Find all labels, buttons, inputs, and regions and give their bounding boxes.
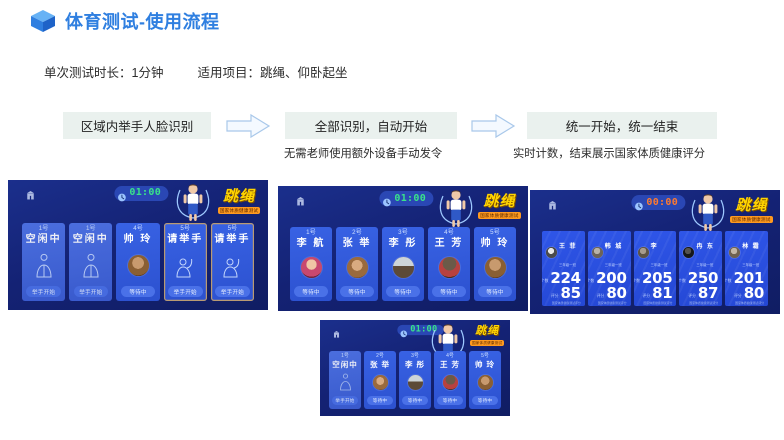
sport-label: 跳绳 国家体质健康测试 (218, 189, 260, 214)
card-number: 1号 (341, 354, 349, 359)
student-card[interactable]: 4号 帅 玲 等待中 (116, 223, 159, 301)
card-name: 李 彤 (405, 361, 425, 369)
result-card-header: 冉 东 三年级一班 (683, 235, 718, 271)
score-footnote: 国家体质健康测试评分 (683, 302, 718, 305)
sport-badge: 国家体质健康测试 (470, 340, 504, 346)
screenshot-panel-standby[interactable]: 01:00 跳绳 国家体质健康测试 1号 空闲中 (8, 180, 268, 310)
flow-step-1-label: 区域内举手人脸识别 (81, 116, 194, 135)
avatar (729, 247, 740, 258)
card-action-button[interactable]: 等待中 (472, 396, 497, 405)
screenshot-panel-partial-recognized[interactable]: 01:00 跳绳 国家体质健康测试 1号 空闲中 (320, 320, 510, 416)
timer-value: 01:00 (129, 188, 161, 198)
card-number: 3号 (398, 230, 408, 236)
result-score-row: 评分 80 (592, 286, 627, 301)
card-action-button[interactable]: 等待中 (294, 286, 328, 297)
score-footnote: 国家体质健康测试评分 (546, 302, 581, 305)
card-figure (291, 249, 331, 286)
panel-header: 01:00 跳绳 国家体质健康测试 (8, 180, 268, 223)
card-figure (23, 245, 64, 286)
count-label: 个数 (725, 280, 731, 286)
student-card[interactable]: 3号 李 彤 等待中 (399, 351, 431, 409)
result-card[interactable]: 林 霜 三年级一班 个数 201 评分 80 国家体质健康测试评分 (725, 231, 768, 306)
card-number: 2号 (352, 230, 362, 236)
result-card-header: 林 霜 三年级一班 (729, 235, 764, 271)
screenshot-panel-results[interactable]: 00:00 跳绳 国家体质健康测试 王 菲 (530, 190, 780, 314)
card-number: 4号 (446, 354, 454, 359)
card-name: 请举手 (214, 235, 250, 245)
card-figure (165, 245, 206, 286)
clock-icon (634, 198, 643, 207)
result-card-list: 王 菲 三年级一班 个数 224 评分 85 国家体质健康测试评分 (530, 231, 780, 314)
card-number: 1号 (39, 226, 49, 232)
result-values: 个数 205 评分 81 国家体质健康测试评分 (638, 271, 673, 305)
sport-badge: 国家体质健康测试 (218, 207, 260, 214)
result-score-row: 评分 87 (683, 286, 718, 301)
card-number: 5号 (490, 230, 500, 236)
result-card-header: 李 三年级一班 (638, 235, 673, 271)
clock-icon (400, 326, 408, 334)
student-card[interactable]: 4号 王 芳 等待中 (428, 227, 470, 301)
student-card[interactable]: 1号 空闲中 举手开始 (329, 351, 361, 409)
jump-rope-athlete-icon (173, 181, 213, 219)
jump-rope-athlete-icon (688, 191, 728, 227)
result-card[interactable]: 王 菲 三年级一班 个数 224 评分 85 国家体质健康测试评分 (542, 231, 585, 306)
raise-hand-pose-icon (32, 253, 56, 279)
avatar (373, 375, 388, 390)
timer-value: 00:00 (646, 198, 678, 208)
card-action-button[interactable]: 举手开始 (215, 286, 250, 297)
score-value: 85 (561, 286, 581, 301)
score-value: 80 (606, 286, 626, 301)
result-name: 韩 城 (605, 244, 623, 250)
avatar (408, 375, 423, 390)
score-value: 81 (652, 286, 672, 301)
card-name: 帅 玲 (481, 239, 510, 249)
student-card[interactable]: 2号 张 举 等待中 (336, 227, 378, 301)
card-figure (383, 249, 423, 286)
card-action-button[interactable]: 等待中 (402, 396, 427, 405)
school-icon (296, 193, 305, 202)
avatar (546, 247, 557, 258)
result-values: 个数 224 评分 85 国家体质健康测试评分 (546, 271, 581, 305)
card-name: 王 芳 (435, 239, 464, 249)
countdown-timer: 01:00 (379, 191, 433, 206)
sport-label: 跳绳 国家体质健康测试 (470, 326, 504, 346)
flow-step-2-label: 全部识别，自动开始 (315, 116, 428, 135)
avatar (439, 257, 460, 278)
card-action-button[interactable]: 举手开始 (168, 286, 203, 297)
count-label: 个数 (588, 280, 594, 286)
card-name: 空闲中 (332, 361, 358, 369)
flow-step-3: 统一开始，统一结束 (527, 112, 717, 139)
card-number: 5号 (228, 226, 238, 232)
panel-header: 01:00 跳绳 国家体质健康测试 (278, 186, 528, 227)
countdown-timer: 00:00 (631, 195, 685, 210)
result-score-row: 评分 81 (638, 286, 673, 301)
card-figure (330, 368, 360, 396)
card-number: 3号 (411, 354, 419, 359)
card-number: 2号 (376, 354, 384, 359)
avatar (393, 257, 414, 278)
flow-step-2: 全部识别，自动开始 (285, 112, 457, 139)
card-action-button[interactable]: 等待中 (478, 286, 512, 297)
student-card[interactable]: 3号 李 彤 等待中 (382, 227, 424, 301)
jump-rope-athlete-icon (428, 321, 468, 347)
score-footnote: 国家体质健康测试评分 (592, 302, 627, 305)
card-number: 5号 (481, 354, 489, 359)
result-values: 个数 201 评分 80 国家体质健康测试评分 (729, 271, 764, 305)
countdown-timer: 01:00 (114, 186, 168, 201)
score-value: 87 (698, 286, 718, 301)
result-class: 三年级一班 (651, 263, 668, 267)
avatar (128, 255, 149, 276)
student-card[interactable]: 4号 王 芳 等待中 (434, 351, 466, 409)
count-label: 个数 (634, 280, 640, 286)
card-action-button[interactable]: 等待中 (367, 396, 392, 405)
card-figure (475, 249, 515, 286)
result-class: 三年级一班 (559, 263, 576, 267)
card-figure (365, 368, 395, 396)
student-card[interactable]: 1号 空闲中 举手开始 (22, 223, 65, 301)
result-name: 王 菲 (559, 244, 577, 250)
avatar (301, 257, 322, 278)
page-header: 体育测试-使用流程 (30, 8, 220, 34)
sport-label: 跳绳 国家体质健康测试 (730, 198, 772, 223)
score-value: 80 (744, 286, 764, 301)
card-name: 李 彤 (389, 239, 418, 249)
card-figure (435, 368, 465, 396)
card-action-button[interactable]: 举手开始 (26, 286, 61, 297)
student-card-list: 1号 空闲中 举手开始 1号 空闲中 (8, 223, 268, 310)
sport-name: 跳绳 (730, 198, 772, 213)
card-name: 张 举 (370, 361, 390, 369)
school-icon (548, 197, 557, 206)
raise-hand-pose-icon (173, 253, 197, 279)
cube-logo-icon (30, 9, 56, 33)
school-icon (26, 187, 35, 196)
card-number: 1号 (306, 230, 316, 236)
student-card[interactable]: 5号 请举手 举手开始 (211, 223, 254, 301)
avatar (638, 247, 649, 258)
card-action-button[interactable]: 等待中 (121, 286, 156, 297)
result-card-header: 韩 城 三年级一班 (592, 235, 627, 271)
avatar (592, 247, 603, 258)
result-class: 三年级一班 (696, 263, 713, 267)
card-name: 帅 玲 (475, 361, 495, 369)
card-action-button[interactable]: 等待中 (386, 286, 420, 297)
card-figure (429, 249, 469, 286)
jump-rope-athlete-icon (436, 187, 476, 223)
clock-icon (117, 189, 126, 198)
student-card[interactable]: 2号 张 举 等待中 (364, 351, 396, 409)
subtitle-row: 单次测试时长：1分钟 适用项目：跳绳、仰卧起坐 (44, 62, 347, 81)
result-card[interactable]: 冉 东 三年级一班 个数 250 评分 87 国家体质健康测试评分 (679, 231, 722, 306)
card-name: 张 举 (343, 239, 372, 249)
applicable-items-label: 适用项目：跳绳、仰卧起坐 (197, 62, 347, 81)
card-figure (400, 368, 430, 396)
card-action-button[interactable]: 等待中 (432, 286, 466, 297)
card-name: 空闲中 (73, 235, 109, 245)
flow-diagram: 区域内举手人脸识别 全部识别，自动开始 无需老师使用额外设备手动发令 统一开始，… (0, 112, 784, 174)
sport-badge: 国家体质健康测试 (730, 216, 772, 223)
screenshot-panel-all-recognized[interactable]: 01:00 跳绳 国家体质健康测试 1号 李 航 (278, 186, 528, 311)
card-number: 4号 (133, 226, 143, 232)
card-figure (212, 245, 253, 286)
sport-badge: 国家体质健康测试 (478, 212, 520, 219)
result-name: 李 (651, 244, 658, 250)
result-values: 个数 200 评分 80 国家体质健康测试评分 (592, 271, 627, 305)
result-values: 个数 250 评分 87 国家体质健康测试评分 (683, 271, 718, 305)
card-number: 5号 (180, 226, 190, 232)
result-card-header: 王 菲 三年级一班 (546, 235, 581, 271)
avatar (347, 257, 368, 278)
arrow-right-icon (470, 113, 516, 139)
card-figure (70, 245, 111, 286)
raise-hand-pose-icon (220, 253, 244, 279)
clock-icon (382, 194, 391, 203)
student-card-list: 1号 李 航 等待中 2号 张 举 等待中 3号 李 彤 (278, 227, 528, 311)
sport-label: 跳绳 国家体质健康测试 (478, 194, 520, 219)
sport-name: 跳绳 (470, 326, 504, 337)
card-figure (470, 368, 500, 396)
flow-step-2-note: 无需老师使用额外设备手动发令 (284, 145, 442, 161)
card-name: 请举手 (167, 235, 203, 245)
sport-name: 跳绳 (218, 189, 260, 204)
card-name: 空闲中 (26, 235, 62, 245)
flow-step-1: 区域内举手人脸识别 (63, 112, 211, 139)
student-card[interactable]: 5号 帅 玲 等待中 (474, 227, 516, 301)
card-action-button[interactable]: 举手开始 (332, 396, 357, 405)
result-card[interactable]: 韩 城 三年级一班 个数 200 评分 80 国家体质健康测试评分 (588, 231, 631, 306)
raise-hand-pose-icon (79, 253, 103, 279)
card-figure (337, 249, 377, 286)
result-name: 冉 东 (696, 244, 714, 250)
page-title: 体育测试-使用流程 (65, 8, 220, 34)
student-card[interactable]: 5号 请举手 举手开始 (164, 223, 207, 301)
score-footnote: 国家体质健康测试评分 (729, 302, 764, 305)
result-class: 三年级一班 (605, 263, 622, 267)
result-card[interactable]: 李 三年级一班 个数 205 评分 81 国家体质健康测试评分 (634, 231, 677, 306)
student-card-list: 1号 空闲中 举手开始 2号 张 举 等待中 3号 李 彤 (320, 351, 510, 416)
card-name: 王 芳 (440, 361, 460, 369)
result-score-row: 评分 85 (546, 286, 581, 301)
flow-step-3-label: 统一开始，统一结束 (566, 116, 679, 135)
result-class: 三年级一班 (742, 263, 759, 267)
card-action-button[interactable]: 等待中 (340, 286, 374, 297)
card-number: 4号 (444, 230, 454, 236)
avatar (683, 247, 694, 258)
card-name: 李 航 (297, 239, 326, 249)
raise-hand-pose-icon (337, 373, 354, 392)
avatar (485, 257, 506, 278)
result-name: 林 霜 (742, 244, 760, 250)
card-action-button[interactable]: 等待中 (437, 396, 462, 405)
school-icon (333, 325, 340, 332)
card-name: 帅 玲 (124, 235, 153, 245)
card-action-button[interactable]: 举手开始 (74, 286, 109, 297)
count-label: 个数 (679, 280, 685, 286)
card-figure (117, 245, 158, 286)
result-score-row: 评分 80 (729, 286, 764, 301)
avatar (443, 375, 458, 390)
panel-header: 01:00 跳绳 国家体质健康测试 (320, 320, 510, 351)
score-footnote: 国家体质健康测试评分 (638, 302, 673, 305)
count-label: 个数 (542, 280, 548, 286)
test-duration-label: 单次测试时长：1分钟 (44, 62, 163, 81)
panel-header: 00:00 跳绳 国家体质健康测试 (530, 190, 780, 231)
arrow-right-icon (225, 113, 271, 139)
sport-name: 跳绳 (478, 194, 520, 209)
card-number: 1号 (86, 226, 96, 232)
avatar (478, 375, 493, 390)
student-card[interactable]: 1号 李 航 等待中 (290, 227, 332, 301)
student-card[interactable]: 1号 空闲中 举手开始 (69, 223, 112, 301)
flow-step-3-note: 实时计数，结束展示国家体质健康评分 (513, 145, 705, 161)
student-card[interactable]: 5号 帅 玲 等待中 (469, 351, 501, 409)
timer-value: 01:00 (394, 194, 426, 204)
